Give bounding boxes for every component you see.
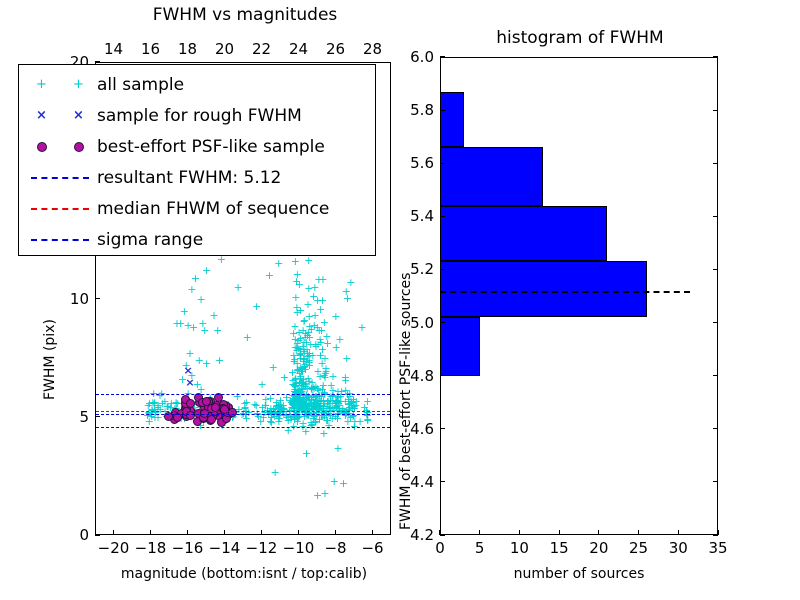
scatter-point-all-sample: +	[180, 306, 189, 317]
scatter-point-all-sample: +	[293, 269, 302, 280]
scatter-point-all-sample: +	[302, 448, 311, 459]
histogram-x-tick	[479, 530, 480, 535]
scatter-point-all-sample: +	[339, 478, 348, 489]
scatter-top-tick-label: 24	[282, 40, 316, 58]
scatter-point-all-sample: +	[202, 358, 211, 369]
scatter-top-tick-label: 28	[356, 40, 390, 58]
histogram-y-tick-label: 5.6	[396, 154, 434, 172]
scatter-point-all-sample: +	[213, 325, 222, 336]
scatter-point-all-sample: +	[311, 339, 320, 350]
scatter-point-all-sample: +	[363, 410, 372, 421]
histogram-x-tick-label: 10	[502, 539, 536, 557]
scatter-point-all-sample: +	[310, 310, 319, 321]
legend-label: sample for rough FWHM	[97, 106, 302, 126]
scatter-point-all-sample: +	[295, 279, 304, 290]
scatter-top-tick-label: 22	[245, 40, 279, 58]
figure-canvas: FWHM vs magnitudes 1416182022242628 ++++…	[0, 0, 800, 600]
legend-marker-plus-icon: ++	[19, 77, 97, 92]
scatter-point-psf-sample	[202, 397, 211, 406]
legend-item-5: sigma range	[19, 224, 375, 255]
legend-label: sigma range	[97, 230, 203, 250]
histogram-x-tick	[678, 530, 679, 535]
scatter-x-tick	[372, 530, 373, 535]
plus-icon: +	[36, 77, 47, 92]
histogram-bar	[441, 147, 543, 205]
histogram-y-tick-right	[713, 534, 718, 535]
scatter-point-all-sample: +	[319, 428, 328, 439]
legend-box: ++all sample××sample for rough FWHMbest-…	[18, 64, 376, 256]
scatter-point-all-sample: +	[269, 362, 278, 373]
scatter-xlabel: magnitude (bottom:isnt / top:calib)	[99, 566, 389, 582]
x-icon: ×	[73, 108, 84, 123]
histogram-y-tick	[440, 110, 445, 111]
circle-icon	[74, 142, 84, 152]
scatter-point-all-sample: +	[265, 270, 274, 281]
histogram-median-line	[441, 291, 690, 293]
histogram-x-tick-label: 20	[582, 539, 616, 557]
scatter-point-all-sample: +	[191, 273, 200, 284]
scatter-point-all-sample: +	[270, 467, 279, 478]
histogram-y-tick	[440, 56, 445, 57]
scatter-point-all-sample: +	[252, 400, 261, 411]
histogram-y-tick	[440, 428, 445, 429]
scatter-point-all-sample: +	[346, 277, 355, 288]
scatter-x-tick-label: −6	[356, 539, 390, 557]
scatter-point-all-sample: +	[304, 255, 313, 266]
scatter-x-tick-label: −16	[171, 539, 205, 557]
scatter-x-tick	[150, 530, 151, 535]
dashed-red-line-icon	[31, 208, 89, 210]
scatter-point-all-sample: +	[315, 396, 324, 407]
histogram-bar	[441, 261, 647, 317]
scatter-x-tick-label: −10	[282, 539, 316, 557]
scatter-point-all-sample: +	[198, 318, 207, 329]
scatter-y-tick-label: 10	[55, 290, 89, 308]
scatter-y-tick-label: 5	[55, 408, 89, 426]
scatter-point-all-sample: +	[185, 348, 194, 359]
median-fwhm-line	[96, 411, 390, 412]
scatter-x-tick	[261, 530, 262, 535]
scatter-point-all-sample: +	[292, 302, 301, 313]
histogram-bar	[441, 317, 480, 375]
x-icon: ×	[36, 108, 47, 123]
scatter-point-all-sample: +	[333, 443, 342, 454]
histogram-y-tick-label: 5.4	[396, 207, 434, 225]
scatter-point-all-sample: +	[341, 375, 350, 386]
scatter-point-all-sample: +	[317, 358, 326, 369]
histogram-bar	[441, 92, 464, 148]
legend-marker-dashdot-blue-icon	[19, 239, 97, 241]
legend-label: best-effort PSF-like sample	[97, 137, 325, 157]
scatter-top-tick-label: 20	[208, 40, 242, 58]
scatter-x-tick	[298, 530, 299, 535]
scatter-point-all-sample: +	[298, 403, 307, 414]
scatter-point-all-sample: +	[322, 331, 331, 342]
scatter-point-all-sample: +	[304, 391, 313, 402]
histogram-title: histogram of FWHM	[440, 28, 720, 48]
histogram-y-tick-right	[713, 56, 718, 57]
scatter-point-all-sample: +	[350, 421, 359, 432]
legend-marker-dashed-red-icon	[19, 208, 97, 210]
scatter-x-tick-label: −12	[245, 539, 279, 557]
scatter-x-tick-label: −14	[208, 539, 242, 557]
scatter-point-all-sample: +	[233, 282, 242, 293]
scatter-point-all-sample: +	[280, 372, 289, 383]
histogram-y-tick-right	[713, 216, 718, 217]
histogram-y-tick-right	[713, 269, 718, 270]
scatter-x-tick	[187, 530, 188, 535]
scatter-x-tick-label: −8	[319, 539, 353, 557]
scatter-y-tick	[95, 416, 100, 417]
plus-icon: +	[73, 77, 84, 92]
scatter-title: FWHM vs magnitudes	[95, 5, 395, 25]
histogram-x-tick-label: 35	[701, 539, 735, 557]
histogram-ylabel: FWHM of best-effort PSF-like sources	[398, 273, 414, 530]
scatter-x-tick-label: −18	[134, 539, 168, 557]
scatter-point-all-sample: +	[296, 362, 305, 373]
histogram-y-tick-right	[713, 375, 718, 376]
scatter-top-tick-label: 14	[97, 40, 131, 58]
scatter-y-tick-label: 0	[55, 526, 89, 544]
histogram-y-tick	[440, 322, 445, 323]
scatter-x-tick	[224, 530, 225, 535]
scatter-point-all-sample: +	[298, 325, 307, 336]
histogram-y-tick-right	[713, 322, 718, 323]
histogram-data-layer	[441, 58, 717, 534]
scatter-point-all-sample: +	[331, 311, 340, 322]
scatter-point-all-sample: +	[300, 346, 309, 357]
scatter-point-all-sample: +	[335, 334, 344, 345]
legend-item-2: best-effort PSF-like sample	[19, 131, 375, 162]
legend-marker-dashed-blue-icon	[19, 177, 97, 179]
scatter-point-all-sample: +	[172, 318, 181, 329]
legend-item-1: ××sample for rough FWHM	[19, 100, 375, 131]
legend-label: resultant FWHM: 5.12	[97, 168, 281, 188]
scatter-point-all-sample: +	[202, 265, 211, 276]
legend-item-3: resultant FWHM: 5.12	[19, 162, 375, 193]
histogram-y-tick-right	[713, 428, 718, 429]
histogram-y-tick	[440, 375, 445, 376]
histogram-y-tick-label: 6.0	[396, 48, 434, 66]
scatter-point-all-sample: +	[291, 256, 300, 267]
legend-label: all sample	[97, 75, 184, 95]
scatter-point-all-sample: +	[310, 282, 319, 293]
dashed-blue-line-icon	[31, 177, 89, 179]
circle-icon	[37, 142, 47, 152]
histogram-y-tick-right	[713, 481, 718, 482]
histogram-x-tick-label: 15	[542, 539, 576, 557]
legend-item-4: median FHWM of sequence	[19, 193, 375, 224]
scatter-point-all-sample: +	[215, 355, 224, 366]
histogram-y-tick	[440, 269, 445, 270]
scatter-point-rough-sample: ×	[184, 365, 193, 376]
scatter-point-all-sample: +	[196, 294, 205, 305]
scatter-point-all-sample: +	[345, 391, 354, 402]
scatter-top-tick-label: 18	[171, 40, 205, 58]
scatter-point-psf-sample	[186, 411, 195, 420]
scatter-point-psf-sample	[220, 405, 229, 414]
histogram-y-tick-right	[713, 110, 718, 111]
legend-item-0: ++all sample	[19, 69, 375, 100]
histogram-x-tick	[519, 530, 520, 535]
scatter-point-psf-sample	[207, 415, 216, 424]
histogram-y-tick-label: 5.8	[396, 101, 434, 119]
scatter-point-all-sample: +	[303, 299, 312, 310]
histogram-x-tick-label: 5	[463, 539, 497, 557]
scatter-y-tick	[95, 298, 100, 299]
scatter-x-tick	[113, 530, 114, 535]
scatter-x-tick-label: −20	[97, 539, 131, 557]
scatter-point-all-sample: +	[252, 301, 261, 312]
scatter-x-tick	[335, 530, 336, 535]
scatter-point-all-sample: +	[320, 488, 329, 499]
scatter-point-all-sample: +	[306, 420, 315, 431]
histogram-x-tick	[638, 530, 639, 535]
scatter-point-all-sample: +	[330, 476, 339, 487]
scatter-point-all-sample: +	[274, 258, 283, 269]
sigma-lower-line	[96, 427, 390, 428]
scatter-y-tick	[95, 534, 100, 535]
legend-label: median FHWM of sequence	[97, 199, 329, 219]
scatter-point-all-sample: +	[343, 293, 352, 304]
scatter-point-all-sample: +	[357, 322, 366, 333]
scatter-point-all-sample: +	[258, 379, 267, 390]
legend-marker-x-icon: ××	[19, 108, 97, 123]
histogram-y-tick	[440, 216, 445, 217]
sigma-upper-line	[96, 394, 390, 395]
histogram-x-tick	[598, 530, 599, 535]
scatter-point-rough-sample: ×	[185, 377, 194, 388]
histogram-y-tick	[440, 481, 445, 482]
histogram-xlabel: number of sources	[440, 566, 718, 582]
dashdot-blue-line-icon	[31, 239, 89, 241]
scatter-point-all-sample: +	[363, 396, 372, 407]
histogram-y-tick	[440, 534, 445, 535]
legend-marker-circle-icon	[19, 142, 97, 152]
histogram-x-tick	[559, 530, 560, 535]
histogram-x-tick-label: 30	[661, 539, 695, 557]
scatter-point-all-sample: +	[189, 322, 198, 333]
scatter-top-tick-label: 16	[134, 40, 168, 58]
scatter-point-all-sample: +	[160, 396, 169, 407]
scatter-y-tick	[95, 61, 100, 62]
histogram-bar	[441, 206, 607, 262]
histogram-y-tick	[440, 163, 445, 164]
histogram-y-tick-right	[713, 163, 718, 164]
scatter-top-tick-label: 26	[319, 40, 353, 58]
scatter-point-all-sample: +	[187, 284, 196, 295]
resultant-fwhm-line	[96, 414, 390, 415]
scatter-point-all-sample: +	[209, 310, 218, 321]
scatter-point-all-sample: +	[342, 353, 351, 364]
histogram-x-tick-label: 25	[622, 539, 656, 557]
scatter-ylabel: FWHM (pix)	[42, 319, 58, 400]
scatter-point-all-sample: +	[243, 332, 252, 343]
